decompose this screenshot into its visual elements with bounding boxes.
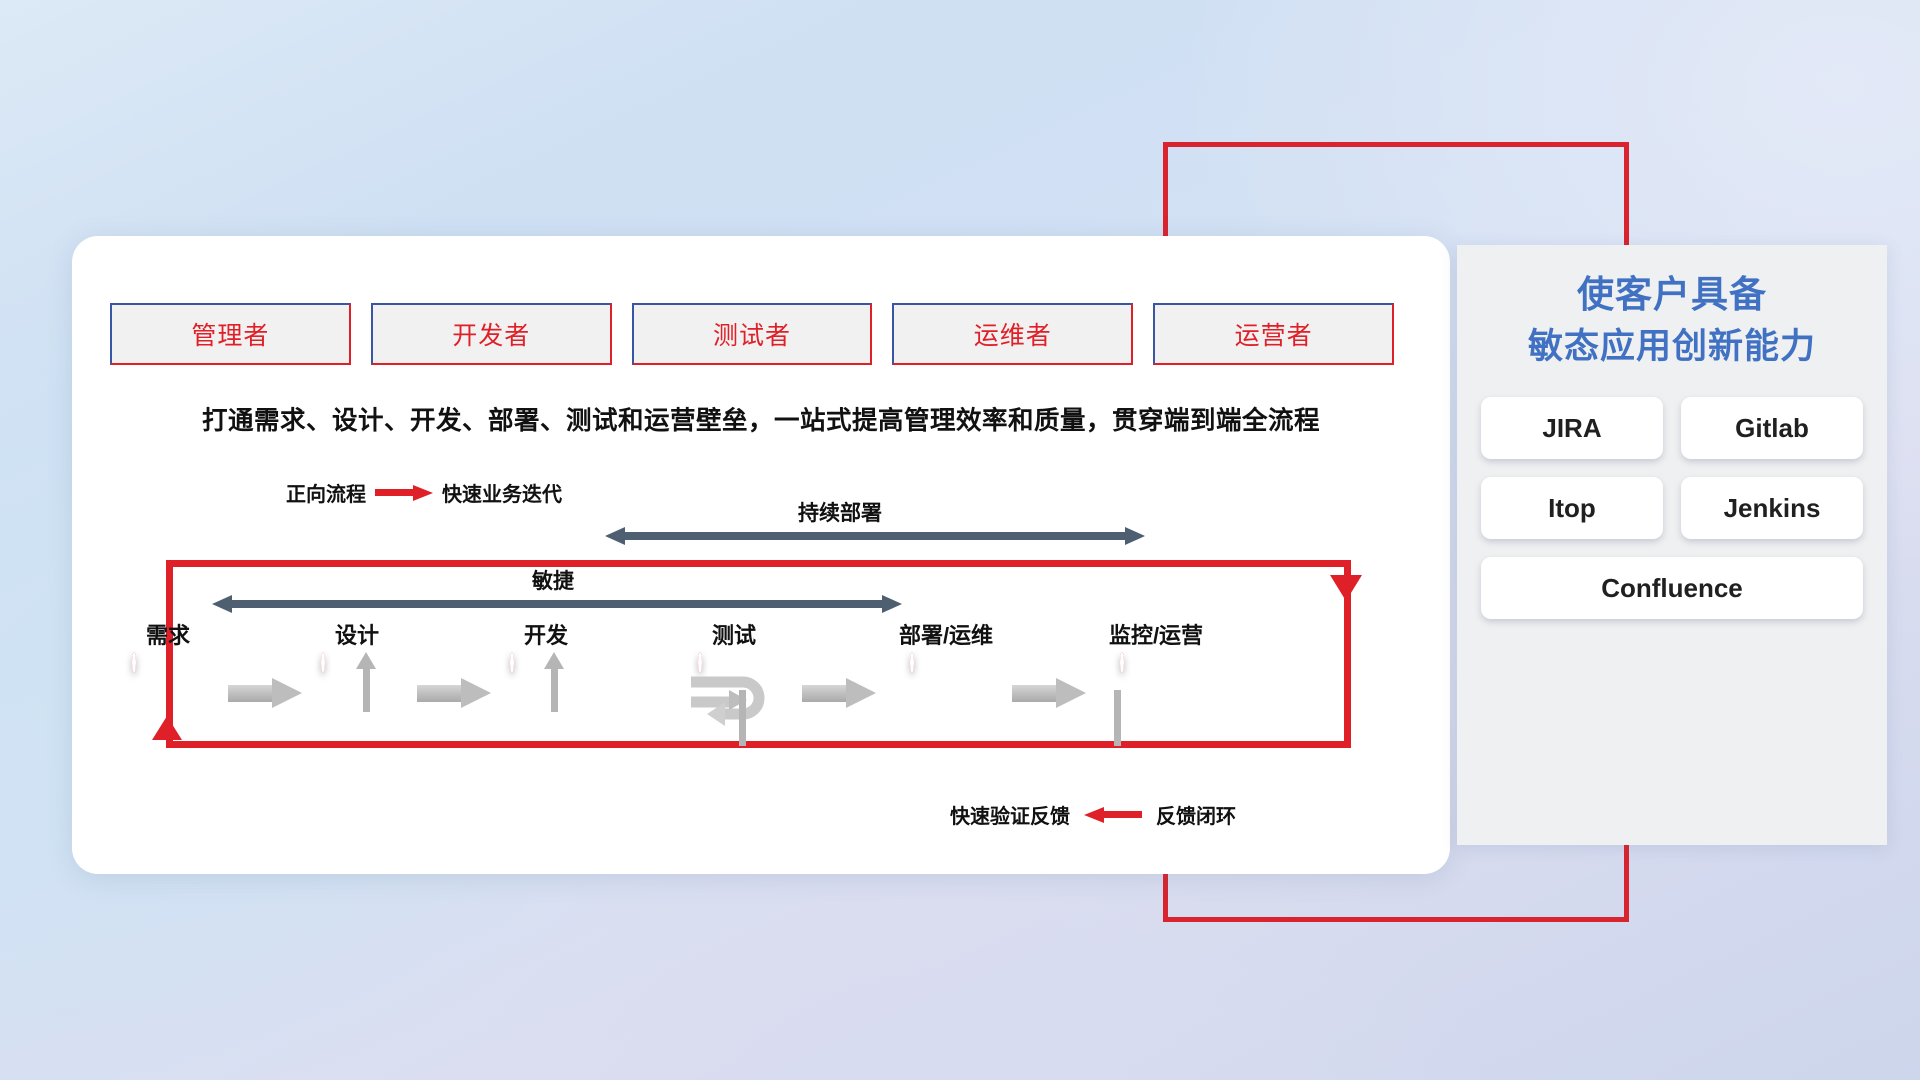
arrow-head-icon [272, 678, 302, 708]
pipeline-node-monitor-operations[interactable]: 监控/运营 [1120, 654, 1192, 726]
arrow-head-right-icon [882, 595, 902, 613]
stem-develop [551, 668, 558, 712]
node-label: 监控/运营 [1109, 618, 1203, 650]
stem-arrow-icon [544, 652, 564, 669]
node-dot-icon [132, 652, 136, 673]
node-dot-icon [698, 652, 702, 673]
node-label: 部署/运维 [899, 618, 993, 650]
node-label: 开发 [524, 618, 568, 650]
stem-test [739, 690, 746, 746]
arrow-bar [228, 685, 274, 702]
arrow-head-icon [1056, 678, 1086, 708]
devops-pipeline: 需求 设计 开发 测试 部署/运维 监控/运营 [110, 616, 1420, 728]
stem-design [363, 668, 370, 712]
tool-chip-jira[interactable]: JIRA [1481, 397, 1663, 459]
roles-row: 管理者 开发者 测试者 运维者 运营者 [110, 303, 1394, 365]
arrow-bar [802, 685, 848, 702]
iteration-loop-icon [685, 672, 777, 728]
role-label: 运维者 [974, 316, 1052, 352]
node-label: 设计 [335, 618, 379, 650]
connector-arrow-deploy-to-monitor [1012, 678, 1086, 708]
arrow-head-left-icon [212, 595, 232, 613]
role-box-operations[interactable]: 运营者 [1153, 303, 1394, 365]
arrow-head-icon [461, 678, 491, 708]
role-box-developer[interactable]: 开发者 [371, 303, 612, 365]
panel-heading: 使客户具备 敏态应用创新能力 [1481, 269, 1863, 371]
role-box-tester[interactable]: 测试者 [632, 303, 873, 365]
arrow-head-right-icon [1125, 527, 1145, 545]
continuous-deployment-label: 持续部署 [798, 497, 882, 527]
tool-label: Gitlab [1735, 413, 1809, 444]
node-label: 测试 [712, 618, 756, 650]
arrow-bar [417, 685, 463, 702]
fast-verify-feedback-label: 快速验证反馈 [950, 800, 1070, 829]
arrow-left-red-icon [1084, 807, 1142, 823]
tool-chip-itop[interactable]: Itop [1481, 477, 1663, 539]
role-box-ops[interactable]: 运维者 [892, 303, 1133, 365]
arrow-bar [1012, 685, 1058, 702]
arrow-head-left-icon [605, 527, 625, 545]
forward-flow-legend: 正向流程 快速业务迭代 [286, 478, 562, 507]
red-loop-arrow-down-icon [1330, 575, 1362, 601]
arrow-bar [231, 600, 883, 608]
tool-label: Itop [1548, 493, 1596, 524]
fast-iteration-label: 快速业务迭代 [442, 478, 562, 507]
node-dot-icon [910, 652, 914, 673]
role-label: 运营者 [1235, 316, 1313, 352]
stem-monitor [1114, 690, 1121, 746]
tool-chip-jenkins[interactable]: Jenkins [1681, 477, 1863, 539]
connector-arrow-req-to-design [228, 678, 302, 708]
connector-arrow-test-to-deploy [802, 678, 876, 708]
role-box-manager[interactable]: 管理者 [110, 303, 351, 365]
forward-flow-label: 正向流程 [286, 478, 366, 507]
tool-chip-gitlab[interactable]: Gitlab [1681, 397, 1863, 459]
pipeline-node-deploy-ops[interactable]: 部署/运维 [910, 654, 982, 726]
panel-heading-line2: 敏态应用创新能力 [1481, 322, 1863, 372]
node-label: 需求 [146, 618, 190, 650]
tool-chip-confluence[interactable]: Confluence [1481, 557, 1863, 619]
arrow-right-red-icon [375, 485, 433, 501]
arrow-head-icon [846, 678, 876, 708]
tool-label: Confluence [1601, 573, 1743, 604]
node-dot-icon [510, 652, 514, 673]
tool-label: Jenkins [1724, 493, 1821, 524]
right-side-panel: 使客户具备 敏态应用创新能力 JIRA Gitlab Itop Jenkins … [1457, 245, 1887, 845]
agile-label: 敏捷 [532, 565, 574, 595]
node-dot-icon [321, 652, 325, 673]
continuous-deployment-span-arrow-icon [605, 527, 1145, 545]
panel-heading-line1: 使客户具备 [1481, 269, 1863, 322]
subtitle-text: 打通需求、设计、开发、部署、测试和运营壁垒，一站式提高管理效率和质量，贯穿端到端… [72, 400, 1450, 437]
role-label: 管理者 [191, 316, 269, 352]
connector-arrow-design-to-develop [417, 678, 491, 708]
role-label: 测试者 [713, 316, 791, 352]
feedback-closed-loop-label: 反馈闭环 [1156, 800, 1236, 829]
arrow-bar [624, 532, 1126, 540]
stem-arrow-icon [356, 652, 376, 669]
role-label: 开发者 [452, 316, 530, 352]
tool-label: JIRA [1542, 413, 1601, 444]
node-dot-icon [1120, 652, 1124, 673]
feedback-loop-legend: 快速验证反馈 反馈闭环 [950, 800, 1236, 829]
tool-chip-grid: JIRA Gitlab Itop Jenkins Confluence [1481, 397, 1863, 619]
pipeline-node-requirement[interactable]: 需求 [132, 654, 204, 726]
agile-span-arrow-icon [212, 595, 902, 613]
